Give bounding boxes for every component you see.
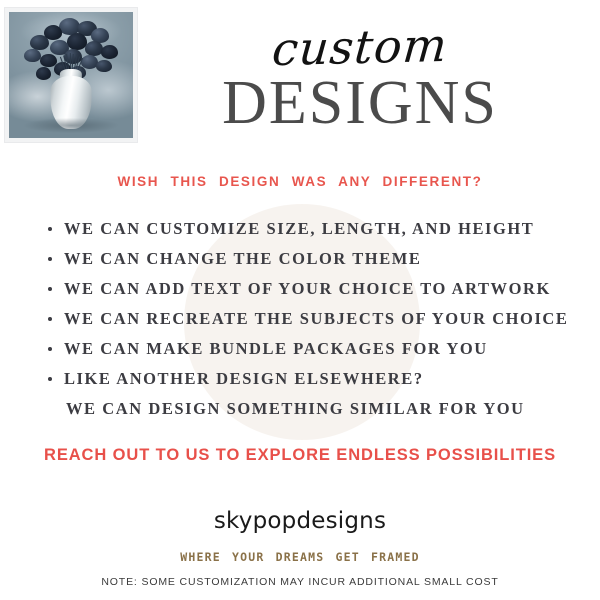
page-title: custom DESIGNS: [140, 24, 580, 135]
list-item-label: WE CAN CUSTOMIZE SIZE, LENGTH, AND HEIGH…: [64, 219, 534, 238]
list-item-label: WE CAN MAKE BUNDLE PACKAGES FOR YOU: [64, 339, 488, 358]
brand-tagline: WHERE YOUR DREAMS GET FRAMED: [0, 550, 600, 564]
bullet-dot-icon: [48, 227, 52, 231]
vase-shadow: [24, 118, 118, 133]
list-item-label: LIKE ANOTHER DESIGN ELSEWHERE?: [64, 369, 424, 388]
artwork-canvas: [9, 12, 133, 138]
brand-name: skypopdesigns: [0, 508, 600, 534]
list-item-label: WE CAN ADD TEXT OF YOUR CHOICE TO ARTWOR…: [64, 279, 551, 298]
bullet-dot-icon: [48, 317, 52, 321]
list-item: WE CAN CHANGE THE COLOR THEME: [44, 244, 584, 274]
footnote-text: NOTE: SOME CUSTOMIZATION MAY INCUR ADDIT…: [0, 576, 600, 588]
list-item: LIKE ANOTHER DESIGN ELSEWHERE?: [44, 364, 584, 394]
list-item-label: WE CAN CHANGE THE COLOR THEME: [64, 249, 421, 268]
list-item: WE CAN MAKE BUNDLE PACKAGES FOR YOU: [44, 334, 584, 364]
poppy-bloom: [101, 45, 118, 59]
call-to-action-text: REACH OUT TO US TO EXPLORE ENDLESS POSSI…: [0, 446, 600, 465]
list-item-label: WE CAN RECREATE THE SUBJECTS OF YOUR CHO…: [64, 309, 568, 328]
title-serif-line: DESIGNS: [140, 72, 580, 135]
custom-designs-poster: custom DESIGNS WISH THIS DESIGN WAS ANY …: [0, 0, 600, 600]
poppy-bloom: [96, 60, 112, 73]
bullet-dot-icon: [48, 257, 52, 261]
poppy-bloom: [30, 35, 49, 50]
feature-list: WE CAN CUSTOMIZE SIZE, LENGTH, AND HEIGH…: [44, 214, 584, 424]
framed-floral-painting-thumbnail[interactable]: [5, 8, 137, 142]
list-item: WE CAN CUSTOMIZE SIZE, LENGTH, AND HEIGH…: [44, 214, 584, 244]
list-item-label: WE CAN DESIGN SOMETHING SIMILAR FOR YOU: [66, 399, 525, 418]
list-item: WE CAN DESIGN SOMETHING SIMILAR FOR YOU: [44, 394, 584, 424]
subheadline: WISH THIS DESIGN WAS ANY DIFFERENT?: [0, 174, 600, 189]
poppy-bloom: [24, 49, 41, 63]
bullet-dot-icon: [48, 377, 52, 381]
bullet-dot-icon: [48, 347, 52, 351]
bullet-dot-icon: [48, 287, 52, 291]
list-item: WE CAN RECREATE THE SUBJECTS OF YOUR CHO…: [44, 304, 584, 334]
list-item: WE CAN ADD TEXT OF YOUR CHOICE TO ARTWOR…: [44, 274, 584, 304]
title-script-line: custom: [138, 19, 583, 76]
poppy-bloom: [36, 67, 51, 80]
